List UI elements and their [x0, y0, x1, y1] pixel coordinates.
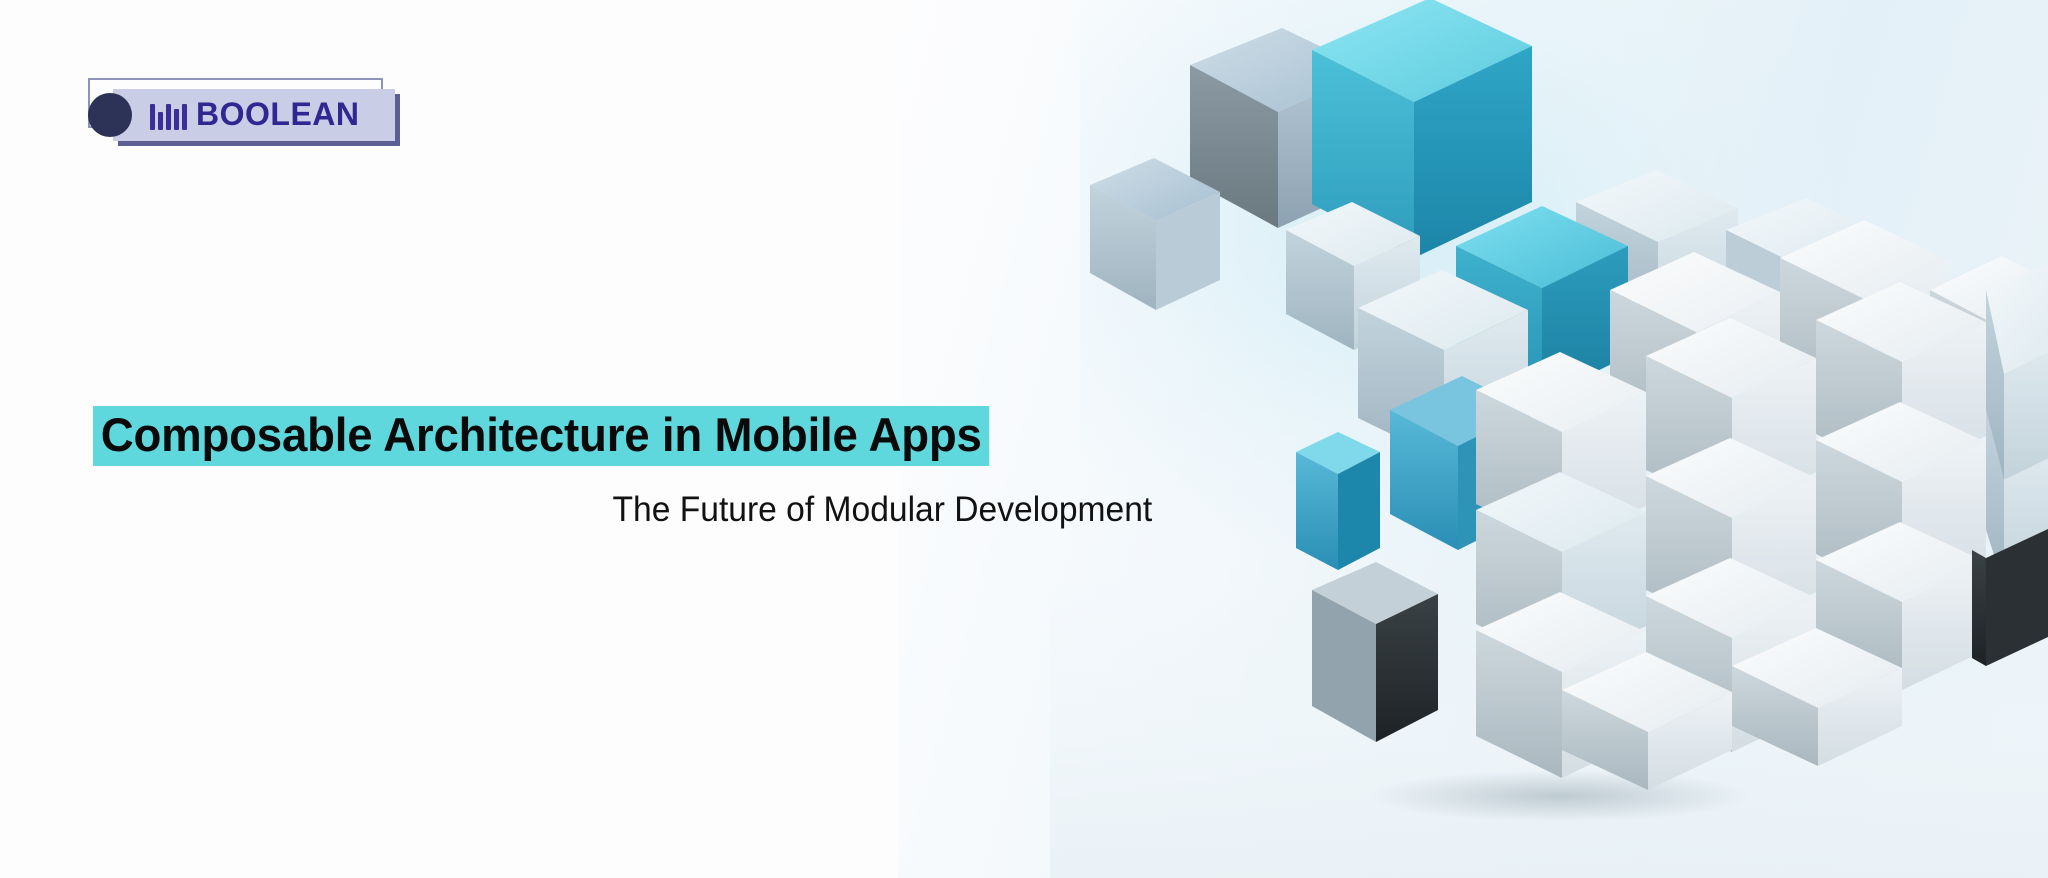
logo-wordmark: BOOLEAN — [196, 98, 360, 130]
accent-cube-cyan-small — [1296, 432, 1380, 570]
page-subtitle: The Future of Modular Development — [136, 490, 1158, 530]
barcode-bars-icon — [150, 102, 187, 130]
brand-logo[interactable]: BOOLEAN — [88, 78, 400, 146]
isometric-cube-artwork — [1090, 0, 2048, 878]
circle-dot-icon — [88, 93, 132, 137]
page-title: Composable Architecture in Mobile Apps — [93, 406, 989, 466]
headline-block: Composable Architecture in Mobile Apps T… — [93, 406, 1158, 530]
cluster-cube-dark-left — [1312, 562, 1438, 742]
cube-illustration — [1090, 0, 2048, 878]
hero-banner: BOOLEAN Composable Architecture in Mobil… — [0, 0, 2048, 878]
